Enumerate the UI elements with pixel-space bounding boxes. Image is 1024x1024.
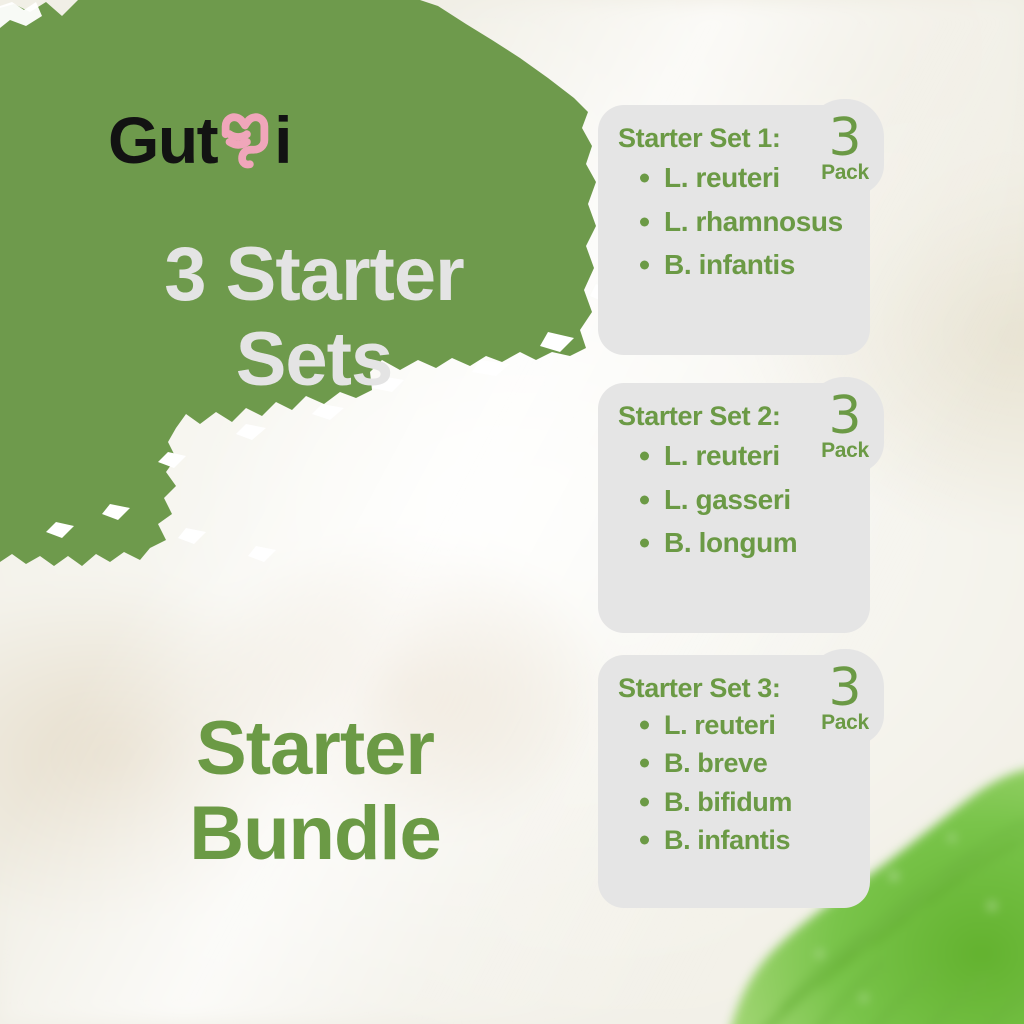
- brand-logo: Gut i: [108, 104, 291, 176]
- headline-line-1: 3 Starter: [164, 232, 463, 317]
- logo-text-first: Gut: [108, 107, 217, 173]
- list-item: B. infantis: [638, 821, 856, 859]
- list-item: B. breve: [638, 744, 856, 782]
- starter-set-card[interactable]: 3 Pack Starter Set 1: L. reuteri L. rham…: [598, 105, 870, 355]
- bundle-title-line-1: Starter: [80, 706, 550, 791]
- list-item: L. reuteri: [638, 434, 856, 478]
- list-item: L. gasseri: [638, 478, 856, 522]
- starter-set-card[interactable]: 3 Pack Starter Set 3: L. reuteri B. brev…: [598, 655, 870, 908]
- bundle-title: Starter Bundle: [80, 706, 550, 876]
- list-item: L. rhamnosus: [638, 200, 856, 244]
- list-item: B. bifidum: [638, 783, 856, 821]
- page-title: 3 Starter Sets: [96, 232, 532, 402]
- strain-list: L. reuteri L. gasseri B. longum: [614, 434, 856, 565]
- bundle-title-line-2: Bundle: [80, 791, 550, 876]
- intestine-icon: [214, 109, 276, 171]
- product-promo-graphic: Gut i 3 Starter Sets Starter Bundle 3 Pa…: [0, 0, 1024, 1024]
- strain-list: L. reuteri L. rhamnosus B. infantis: [614, 156, 856, 287]
- list-item: B. infantis: [638, 243, 856, 287]
- list-item: B. longum: [638, 521, 856, 565]
- starter-set-card[interactable]: 3 Pack Starter Set 2: L. reuteri L. gass…: [598, 383, 870, 633]
- list-item: L. reuteri: [638, 156, 856, 200]
- logo-text-last: i: [274, 107, 291, 173]
- headline-line-2: Sets: [236, 317, 393, 402]
- list-item: L. reuteri: [638, 706, 856, 744]
- strain-list: L. reuteri B. breve B. bifidum B. infant…: [614, 706, 856, 859]
